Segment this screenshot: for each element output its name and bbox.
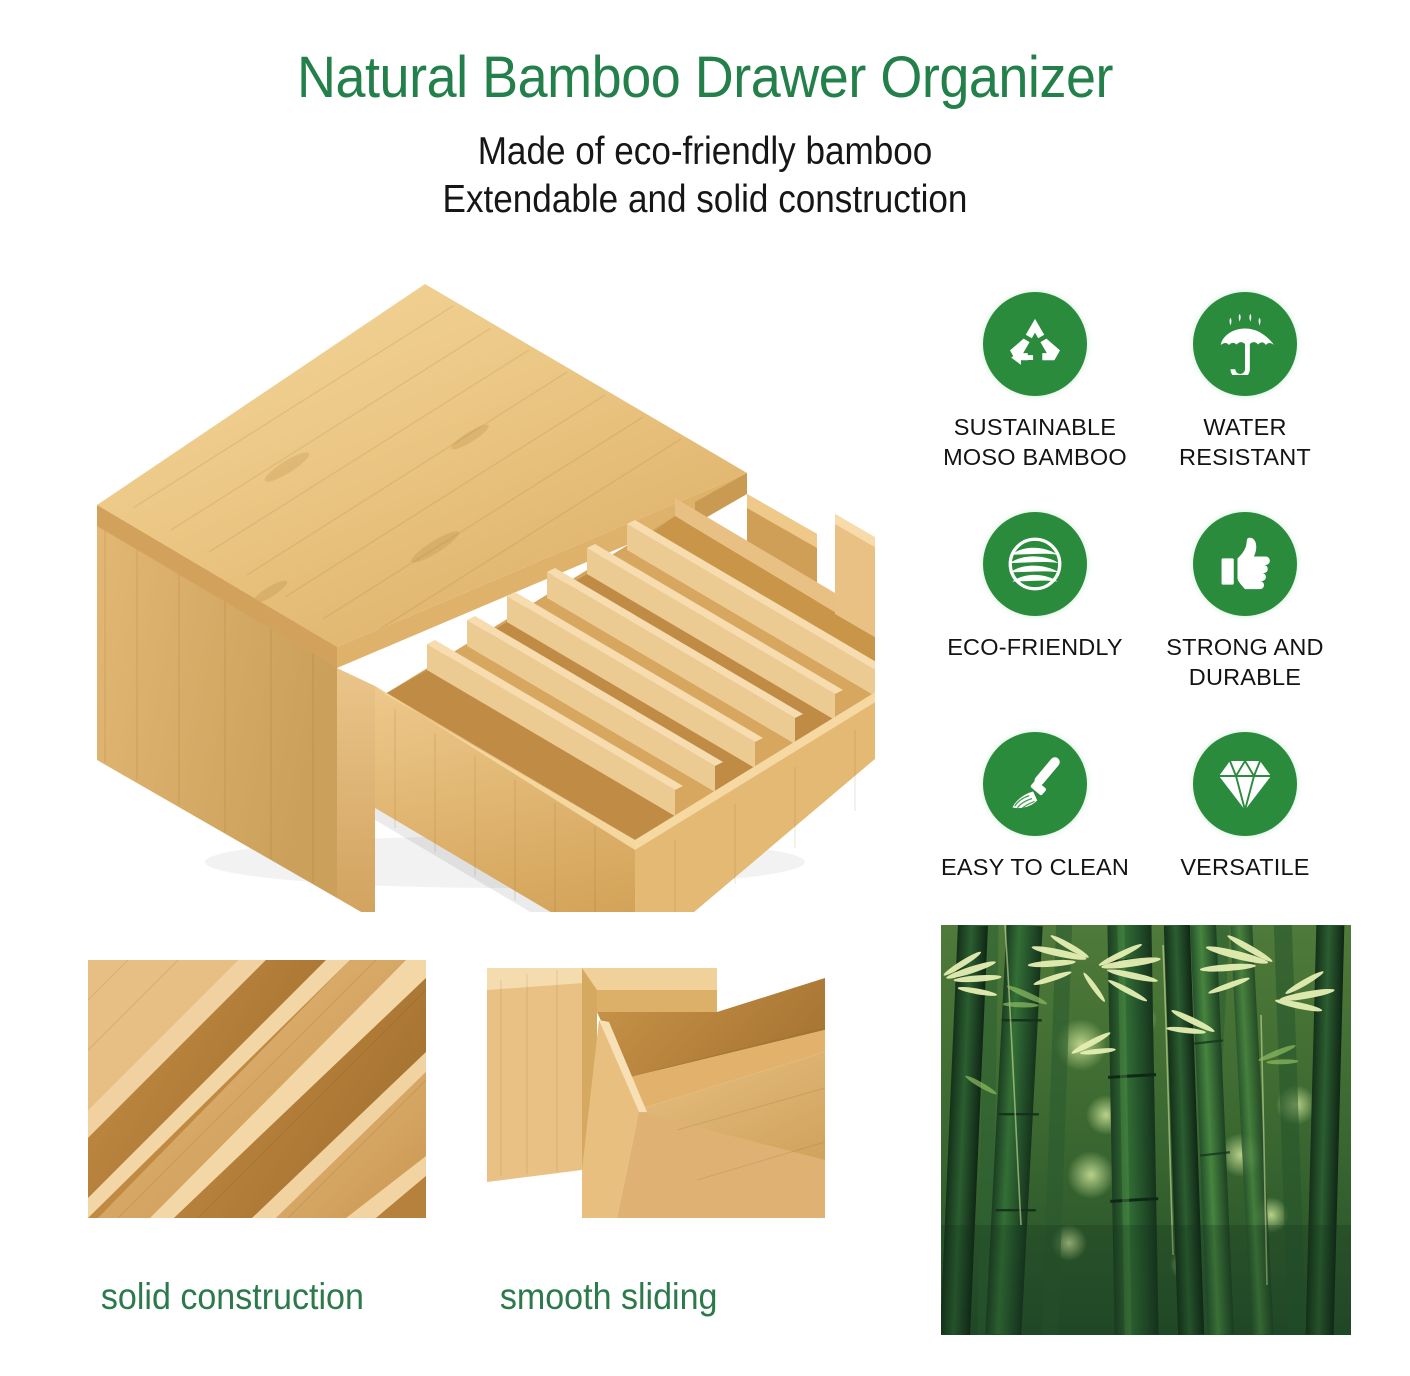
feature-label: STRONG AND DURABLE — [1166, 632, 1323, 692]
feature-label-line-1: STRONG AND — [1166, 634, 1323, 660]
recycle-badge — [983, 292, 1087, 396]
feature-water-resistant: WATER RESISTANT — [1140, 292, 1350, 512]
feature-label: SUSTAINABLE MOSO BAMBOO — [943, 412, 1127, 472]
feature-label-line-1: WATER — [1203, 414, 1286, 440]
feature-label: EASY TO CLEAN — [941, 852, 1129, 882]
subtitle-line-2: Extendable and solid construction — [71, 175, 1340, 223]
feature-easy-to-clean: EASY TO CLEAN — [930, 732, 1140, 952]
feature-label-line-2: MOSO BAMBOO — [943, 444, 1127, 470]
diamond-badge — [1193, 732, 1297, 836]
feature-label: VERSATILE — [1180, 852, 1309, 882]
feature-label-line-2: RESISTANT — [1179, 444, 1311, 470]
feature-label: ECO-FRIENDLY — [947, 632, 1123, 662]
umbrella-icon — [1214, 313, 1276, 375]
umbrella-badge — [1193, 292, 1297, 396]
thumbnail-image-solid-construction — [88, 960, 426, 1218]
feature-label-line-1: EASY TO CLEAN — [941, 854, 1129, 880]
leaf-icon — [1002, 531, 1068, 597]
thumbs-up-badge — [1193, 512, 1297, 616]
product-hero-image — [75, 262, 875, 912]
feature-label: WATER RESISTANT — [1179, 412, 1311, 472]
feature-grid: SUSTAINABLE MOSO BAMBOO WATER RES — [930, 292, 1350, 952]
feature-label-line-1: VERSATILE — [1180, 854, 1309, 880]
feature-label-line-2: DURABLE — [1189, 664, 1301, 690]
feature-eco-friendly: ECO-FRIENDLY — [930, 512, 1140, 732]
feature-versatile: VERSATILE — [1140, 732, 1350, 952]
thumbnail-block-smooth-sliding: smooth sliding — [487, 960, 825, 1318]
recycle-icon — [1004, 313, 1066, 375]
subtitle-line-1: Made of eco-friendly bamboo — [71, 111, 1340, 175]
bamboo-forest-image — [941, 925, 1351, 1335]
feature-sustainable-moso-bamboo: SUSTAINABLE MOSO BAMBOO — [930, 292, 1140, 512]
feature-label-line-1: SUSTAINABLE — [954, 414, 1116, 440]
thumbs-up-icon — [1215, 534, 1275, 594]
thumbnail-block-solid-construction: solid construction — [88, 960, 426, 1318]
feature-label-line-1: ECO-FRIENDLY — [947, 634, 1123, 660]
header: Natural Bamboo Drawer Organizer Made of … — [0, 0, 1410, 223]
page-title: Natural Bamboo Drawer Organizer — [49, 0, 1360, 111]
thumbnail-caption: smooth sliding — [487, 1276, 798, 1318]
feature-strong-and-durable: STRONG AND DURABLE — [1140, 512, 1350, 732]
thumbnail-image-smooth-sliding — [487, 960, 825, 1218]
broom-icon — [1004, 753, 1066, 815]
diamond-icon — [1213, 752, 1277, 816]
broom-badge — [983, 732, 1087, 836]
leaf-badge — [983, 512, 1087, 616]
thumbnail-caption: solid construction — [88, 1276, 399, 1318]
